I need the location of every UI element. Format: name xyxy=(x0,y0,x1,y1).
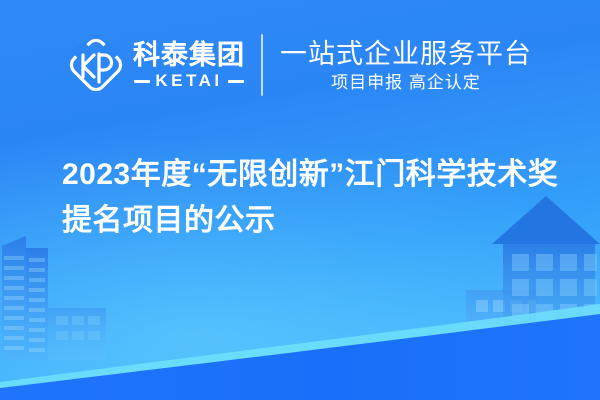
kp-monogram-icon xyxy=(68,37,124,93)
wave-body xyxy=(0,314,600,400)
tagline-main: 一站式企业服务平台 xyxy=(280,38,532,70)
company-logo[interactable]: 科泰集团 KETAI xyxy=(68,37,261,93)
logo-en-row: KETAI xyxy=(133,72,245,90)
header-divider xyxy=(261,34,263,96)
logo-company-cn: 科泰集团 xyxy=(133,40,245,70)
page-title: 2023年度“无限创新”江门科学技术奖提名项目的公示 xyxy=(62,152,562,244)
banner-header: 科泰集团 KETAI 一站式企业服务平台 项目申报 高企认定 xyxy=(0,0,600,130)
promo-banner: 科泰集团 KETAI 一站式企业服务平台 项目申报 高企认定 2023年度“无限… xyxy=(0,0,600,400)
tagline-block: 一站式企业服务平台 项目申报 高企认定 xyxy=(280,38,532,93)
logo-dash-left-icon xyxy=(134,80,150,83)
logo-wordmark: 科泰集团 KETAI xyxy=(133,40,245,90)
ground-wave xyxy=(0,270,600,400)
tagline-sub: 项目申报 高企认定 xyxy=(331,73,481,93)
logo-dash-right-icon xyxy=(228,80,244,83)
logo-company-en: KETAI xyxy=(155,72,222,90)
